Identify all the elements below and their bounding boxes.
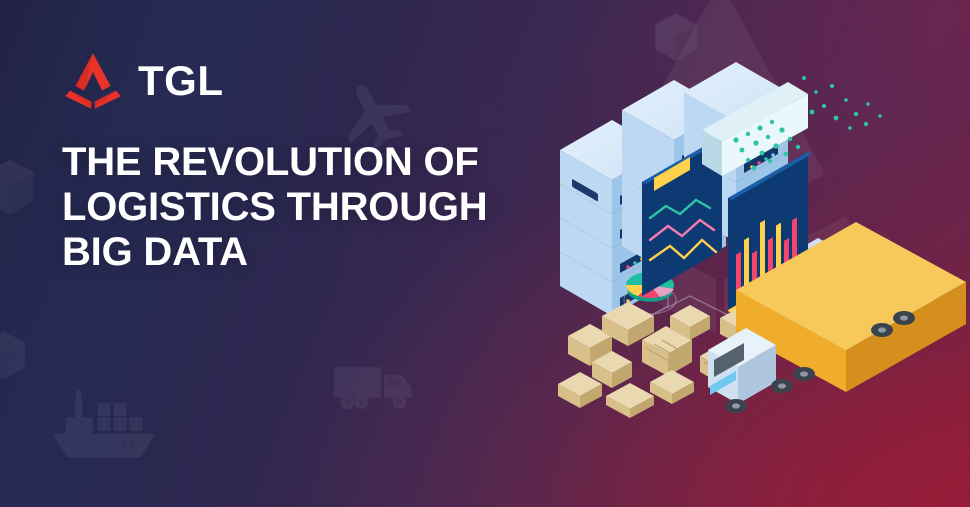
headline-line-1: THE REVOLUTION OF <box>62 140 582 185</box>
page-title: THE REVOLUTION OF LOGISTICS THROUGH BIG … <box>62 140 582 274</box>
brand-lockup: TGL <box>62 52 582 110</box>
delivery-truck-icon <box>332 358 424 416</box>
cargo-ship-icon <box>48 382 160 466</box>
headline-line-2: LOGISTICS THROUGH <box>62 185 582 230</box>
package-box-icon <box>0 330 28 382</box>
hero-banner: TGL THE REVOLUTION OF LOGISTICS THROUGH … <box>0 0 970 507</box>
big-data-logistics-isometric-illustration <box>550 0 970 507</box>
tgl-triangle-logo-icon <box>62 52 124 110</box>
brand-name: TGL <box>138 60 223 102</box>
headline-line-3: BIG DATA <box>62 230 582 275</box>
hero-text-column: TGL THE REVOLUTION OF LOGISTICS THROUGH … <box>62 52 582 274</box>
package-box-icon <box>0 158 38 218</box>
